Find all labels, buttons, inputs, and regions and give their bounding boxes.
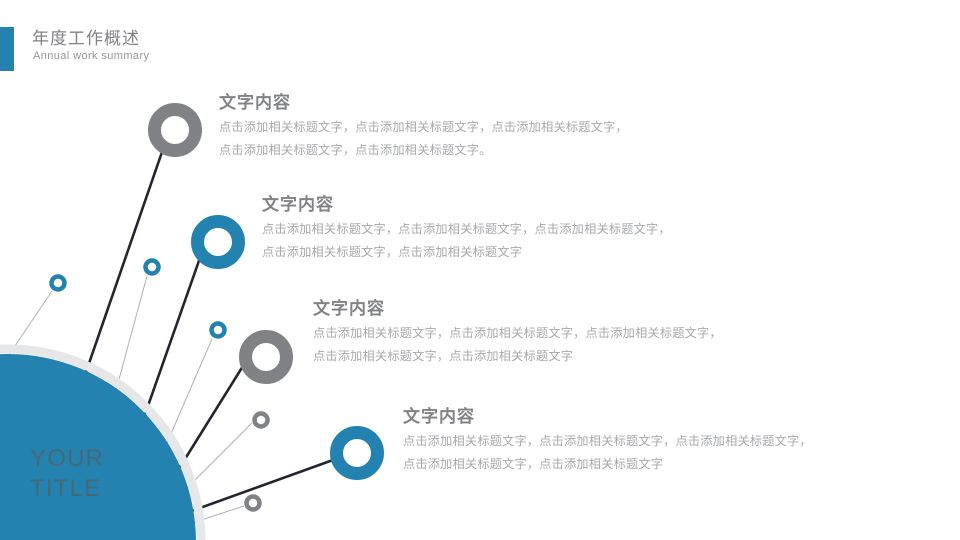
page-title: 年度工作概述 bbox=[32, 24, 140, 49]
page-subtitle: Annual work summary bbox=[33, 50, 149, 62]
content-block-3-line-2: 点击添加相关标题文字，点击添加相关标题文字 bbox=[313, 345, 793, 368]
center-circle-group bbox=[0, 349, 201, 540]
content-block-3-heading: 文字内容 bbox=[313, 294, 793, 319]
content-block-4-heading: 文字内容 bbox=[403, 402, 883, 427]
large-marker-3[interactable] bbox=[246, 337, 287, 378]
large-marker-1[interactable] bbox=[155, 110, 196, 151]
small-marker-2[interactable] bbox=[146, 261, 159, 274]
content-block-2-heading: 文字内容 bbox=[262, 190, 732, 215]
content-block-4: 文字内容 点击添加相关标题文字，点击添加相关标题文字，点击添加相关标题文字， 点… bbox=[403, 402, 883, 476]
content-block-3-body: 点击添加相关标题文字，点击添加相关标题文字，点击添加相关标题文字， 点击添加相关… bbox=[313, 322, 793, 368]
content-block-3-line-1: 点击添加相关标题文字，点击添加相关标题文字，点击添加相关标题文字， bbox=[313, 322, 793, 345]
small-marker-4[interactable] bbox=[255, 414, 268, 427]
content-block-4-line-2: 点击添加相关标题文字，点击添加相关标题文字 bbox=[403, 453, 883, 476]
small-marker-3[interactable] bbox=[212, 324, 225, 337]
content-block-1-line-2: 点击添加相关标题文字，点击添加相关标题文字。 bbox=[219, 139, 689, 162]
content-block-2-line-1: 点击添加相关标题文字，点击添加相关标题文字，点击添加相关标题文字， bbox=[262, 218, 732, 241]
content-block-2-line-2: 点击添加相关标题文字，点击添加相关标题文字 bbox=[262, 241, 732, 264]
content-block-1-body: 点击添加相关标题文字，点击添加相关标题文字，点击添加相关标题文字， 点击添加相关… bbox=[219, 116, 689, 162]
content-block-4-line-1: 点击添加相关标题文字，点击添加相关标题文字，点击添加相关标题文字， bbox=[403, 430, 883, 453]
content-block-2: 文字内容 点击添加相关标题文字，点击添加相关标题文字，点击添加相关标题文字， 点… bbox=[262, 190, 732, 264]
large-marker-4[interactable] bbox=[337, 433, 378, 474]
center-circle-fill bbox=[0, 354, 196, 540]
content-block-3: 文字内容 点击添加相关标题文字，点击添加相关标题文字，点击添加相关标题文字， 点… bbox=[313, 294, 793, 368]
small-marker-5[interactable] bbox=[247, 497, 260, 510]
content-block-4-body: 点击添加相关标题文字，点击添加相关标题文字，点击添加相关标题文字， 点击添加相关… bbox=[403, 430, 883, 476]
content-block-1-heading: 文字内容 bbox=[219, 88, 689, 113]
slide-canvas: 年度工作概述 Annual work summary YOUR TITLE 文字… bbox=[0, 0, 960, 540]
content-block-1-line-1: 点击添加相关标题文字，点击添加相关标题文字，点击添加相关标题文字， bbox=[219, 116, 689, 139]
slide-header: 年度工作概述 Annual work summary bbox=[0, 27, 320, 71]
small-marker-1[interactable] bbox=[52, 277, 65, 290]
header-accent-bar bbox=[0, 27, 14, 71]
content-block-2-body: 点击添加相关标题文字，点击添加相关标题文字，点击添加相关标题文字， 点击添加相关… bbox=[262, 218, 732, 264]
large-marker-2[interactable] bbox=[198, 222, 239, 263]
content-block-1: 文字内容 点击添加相关标题文字，点击添加相关标题文字，点击添加相关标题文字， 点… bbox=[219, 88, 689, 162]
